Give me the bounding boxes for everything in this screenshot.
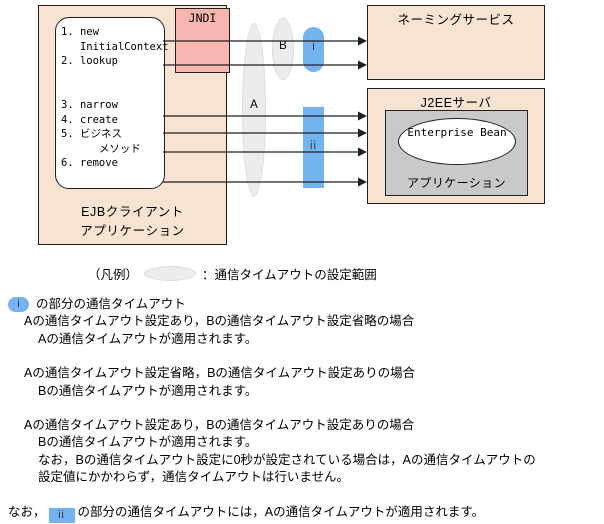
note-spacer-2	[0, 400, 604, 417]
note-case-3-line-1: Aの通信タイムアウト設定あり，Bの通信タイムアウト設定ありの場合	[0, 417, 604, 434]
note-heading: i の部分の通信タイムアウト	[0, 296, 604, 313]
legend-text: ：通信タイムアウトの設定範囲	[202, 264, 377, 283]
note-final: なお，iiの部分の通信タイムアウトには，Aの通信タイムアウトが適用されます。	[0, 504, 604, 523]
note-case-3-line-4: 設定値にかかわらず，通信タイムアウトは行いません。	[0, 469, 604, 486]
note-spacer-1	[0, 348, 604, 365]
note-case-1-line-1: Aの通信タイムアウト設定あり，Bの通信タイムアウト設定省略の場合	[0, 313, 604, 330]
connection-arrows	[0, 0, 604, 262]
note-heading-text: の部分の通信タイムアウト	[36, 296, 186, 313]
legend-prefix: （凡例）	[88, 264, 138, 283]
note-case-3: Aの通信タイムアウト設定あり，Bの通信タイムアウト設定ありの場合 Bの通信タイム…	[0, 417, 604, 487]
note-spacer-3	[0, 487, 604, 504]
note-case-3-line-2: Bの通信タイムアウトが適用されます。	[0, 434, 604, 451]
note-final-prefix: なお，	[8, 505, 46, 519]
note-final-suffix: の部分の通信タイムアウトには，Aの通信タイムアウトが適用されます。	[78, 505, 485, 519]
legend: （凡例） ：通信タイムアウトの設定範囲	[0, 262, 604, 292]
notes-section: i の部分の通信タイムアウト Aの通信タイムアウト設定あり，Bの通信タイムアウト…	[0, 296, 604, 523]
note-case-1-line-2: Aの通信タイムアウトが適用されます。	[0, 331, 604, 348]
note-case-2-line-2: Bの通信タイムアウトが適用されます。	[0, 383, 604, 400]
legend-row: （凡例） ：通信タイムアウトの設定範囲	[88, 264, 377, 283]
note-case-3-line-3: なお，Bの通信タイムアウト設定に0秒が設定されている場合は，Aの通信タイムアウト…	[0, 452, 604, 469]
legend-ellipse-swatch	[144, 266, 196, 281]
marker-ii-icon: ii	[49, 508, 75, 523]
note-case-2: Aの通信タイムアウト設定省略，Bの通信タイムアウト設定ありの場合 Bの通信タイム…	[0, 365, 604, 400]
architecture-diagram: 1. new InitialContext 2. lookup 3. narro…	[0, 0, 604, 262]
note-case-1: Aの通信タイムアウト設定あり，Bの通信タイムアウト設定省略の場合 Aの通信タイム…	[0, 313, 604, 348]
marker-i-icon: i	[8, 297, 29, 312]
note-case-2-line-1: Aの通信タイムアウト設定省略，Bの通信タイムアウト設定ありの場合	[0, 365, 604, 382]
